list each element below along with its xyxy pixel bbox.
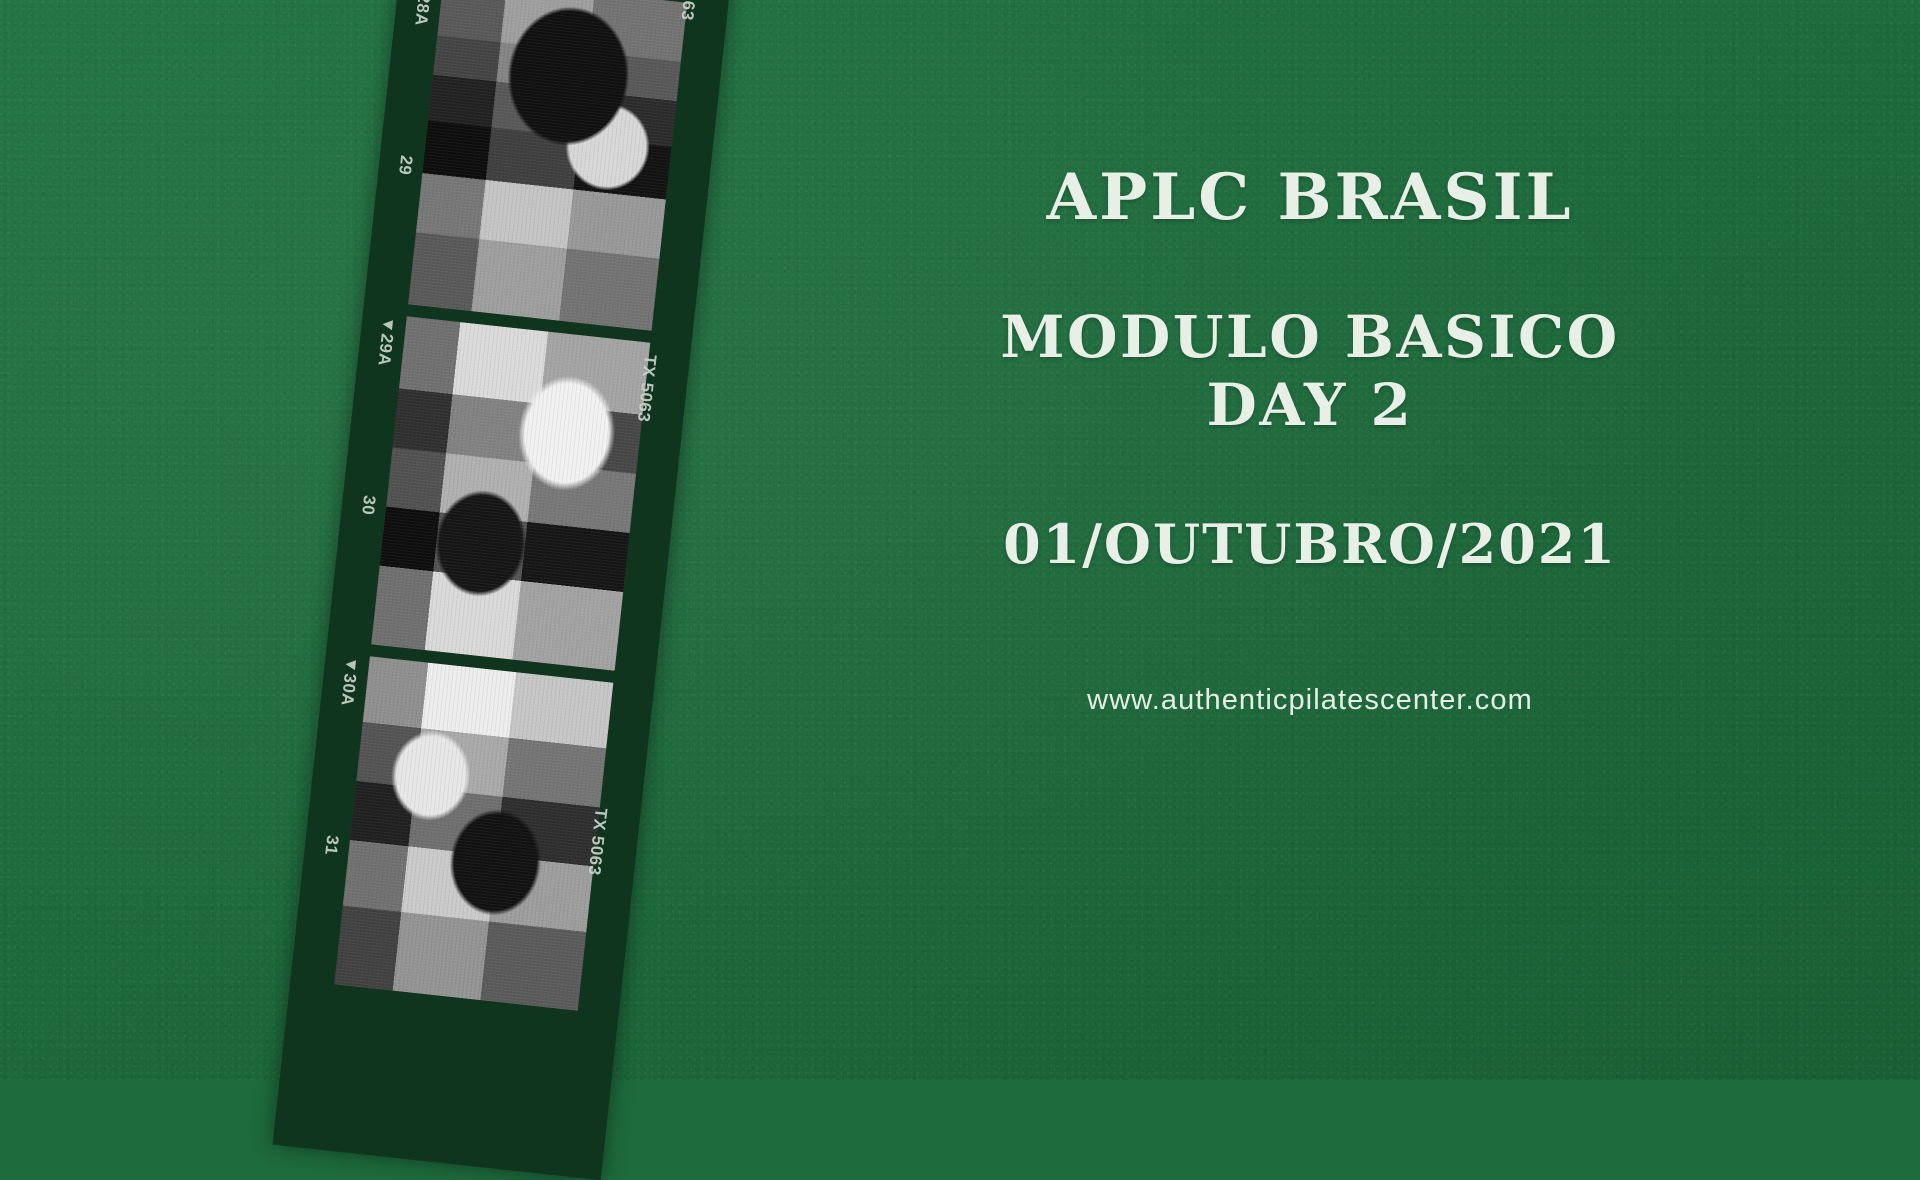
film-marking-30: 30 — [357, 494, 379, 516]
photo-3 — [334, 656, 613, 1011]
film-frame-2 — [371, 316, 650, 671]
film-marking-29: 29 — [394, 154, 416, 176]
photo-1 — [408, 0, 687, 331]
photo-2 — [371, 316, 650, 671]
subtitle-line-1: MODULO BASICO — [1000, 303, 1619, 371]
film-marking-5063-top: 5063 — [676, 0, 700, 22]
film-marking-30a: ▼30A — [336, 655, 361, 707]
poster-text-block: APLC BRASIL MODULO BASICO DAY 2 01/OUTUB… — [700, 0, 1920, 1080]
film-marking-29a: ▼29A — [373, 315, 398, 367]
page-title: APLC BRASIL — [1046, 160, 1573, 235]
event-date: 01/OUTUBRO/2021 — [1003, 512, 1617, 576]
film-frame-1 — [408, 0, 687, 331]
film-marking-31: 31 — [320, 834, 342, 856]
subtitle: MODULO BASICO DAY 2 — [1000, 303, 1619, 440]
film-marking-28a: ▼28A — [410, 0, 435, 27]
website-url: www.authenticpilatescenter.com — [1087, 684, 1533, 717]
film-frame-3 — [334, 656, 613, 1011]
subtitle-line-2: DAY 2 — [1000, 371, 1619, 439]
